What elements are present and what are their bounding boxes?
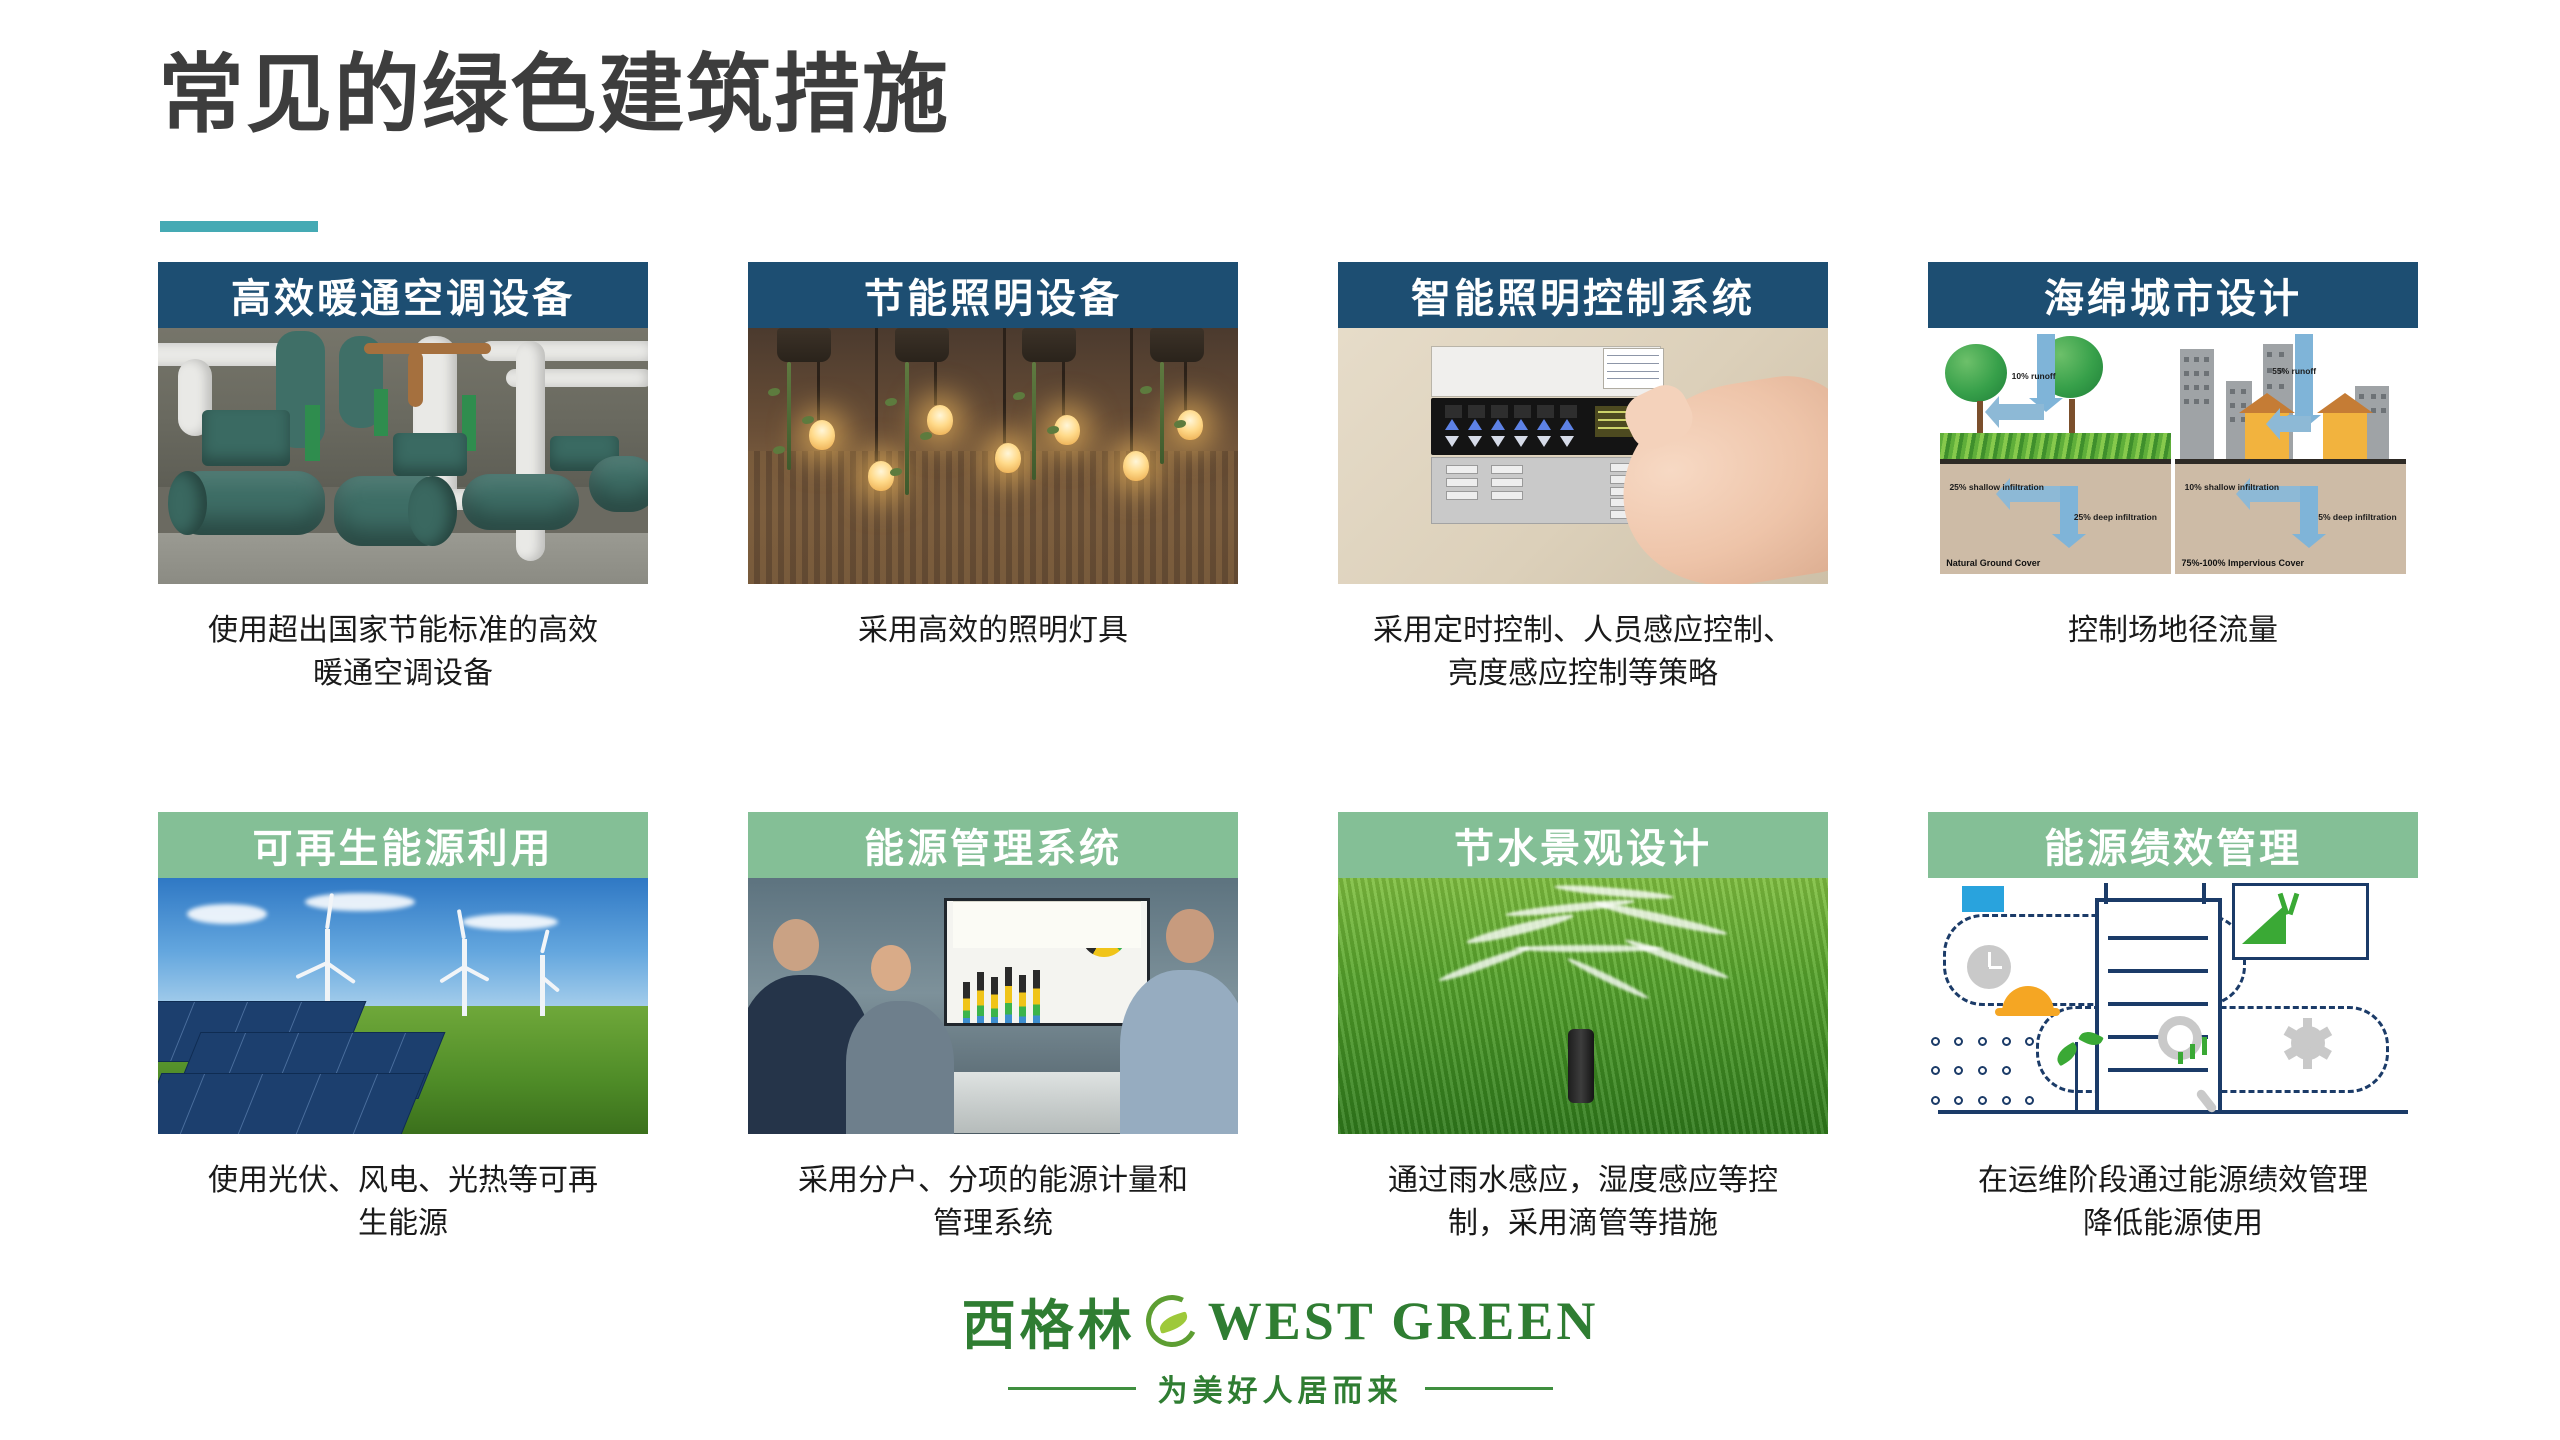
card-header-lighting-control: 智能照明控制系统 [1338,262,1828,328]
card-image-sponge-city-diagram: 10% runoff 25% shallow infiltration 25% … [1928,328,2418,584]
card-energy-performance[interactable]: 能源绩效管理 [1928,812,2418,1245]
card-caption-lighting-fixtures: 采用高效的照明灯具 [748,610,1238,653]
card-image-lighting-control-panel [1338,328,1828,584]
card-image-solar-wind-farm [158,878,648,1134]
card-caption-sponge-city: 控制场地径流量 [1928,610,2418,653]
card-lighting-control[interactable]: 智能照明控制系统 [1338,262,1828,695]
logo-english-name: WEST GREEN [1208,1290,1599,1352]
sponge-right-deep: 5% deep infiltration [2318,512,2396,522]
card-image-energy-dashboard-meeting [748,878,1238,1134]
card-header-lighting-fixtures: 节能照明设备 [748,262,1238,328]
measures-row-1: 高效暖通空调设备 [0,262,2560,792]
card-header-energy-performance: 能源绩效管理 [1928,812,2418,878]
sponge-right-shallow: 10% shallow infiltration [2185,482,2279,492]
card-image-hvac-chiller [158,328,648,584]
card-caption-renewable-energy: 使用光伏、风电、光热等可再 生能源 [158,1160,648,1245]
card-image-lawn-sprinkler [1338,878,1828,1134]
sponge-right-runoff: 55% runoff [2272,366,2316,376]
tagline-rule-right [1425,1387,1553,1390]
logo-tagline: 为美好人居而来 [1158,1366,1403,1410]
sponge-left-cover: Natural Ground Cover [1946,558,2040,568]
leaf-logo-icon [1139,1288,1205,1354]
card-sponge-city[interactable]: 海绵城市设计 10% runoff [1928,262,2418,653]
title-accent-bar [160,221,318,232]
card-header-renewable-energy: 可再生能源利用 [158,812,648,878]
card-caption-water-saving-landscape: 通过雨水感应，湿度感应等控 制，采用滴管等措施 [1338,1160,1828,1245]
sponge-right-cover: 75%-100% Impervious Cover [2181,558,2304,568]
card-renewable-energy[interactable]: 可再生能源利用 [158,812,648,1245]
card-energy-management[interactable]: 能源管理系统 [748,812,1238,1245]
card-hvac[interactable]: 高效暖通空调设备 [158,262,648,695]
card-header-energy-management: 能源管理系统 [748,812,1238,878]
sponge-left-deep: 25% deep infiltration [2074,512,2157,522]
card-caption-energy-performance: 在运维阶段通过能源绩效管理 降低能源使用 [1928,1160,2418,1245]
tagline-rule-left [1008,1387,1136,1390]
page-title: 常见的绿色建筑措施 [158,48,950,143]
sponge-left-runoff: 10% runoff [2012,371,2056,381]
footer-logo: 西格林 WEST GREEN 为美好人居而来 [0,1281,2560,1410]
logo-chinese-name: 西格林 [962,1281,1136,1360]
card-lighting-fixtures[interactable]: 节能照明设备 [748,262,1238,653]
measures-row-2: 可再生能源利用 [0,812,2560,1342]
measures-grid: 高效暖通空调设备 [0,262,2560,1342]
card-header-hvac: 高效暖通空调设备 [158,262,648,328]
card-header-sponge-city: 海绵城市设计 [1928,262,2418,328]
card-image-energy-performance-diagram [1928,878,2418,1134]
card-caption-lighting-control: 采用定时控制、人员感应控制、 亮度感应控制等策略 [1338,610,1828,695]
card-header-water-saving-landscape: 节水景观设计 [1338,812,1828,878]
card-caption-energy-management: 采用分户、分项的能源计量和 管理系统 [748,1160,1238,1245]
sponge-left-shallow: 25% shallow infiltration [1949,482,2043,492]
card-water-saving-landscape[interactable]: 节水景观设计 通过雨水感应，湿度感应等控 制，采用滴管等措施 [1338,812,1828,1245]
card-image-pendant-lighting [748,328,1238,584]
card-caption-hvac: 使用超出国家节能标准的高效 暖通空调设备 [158,610,648,695]
